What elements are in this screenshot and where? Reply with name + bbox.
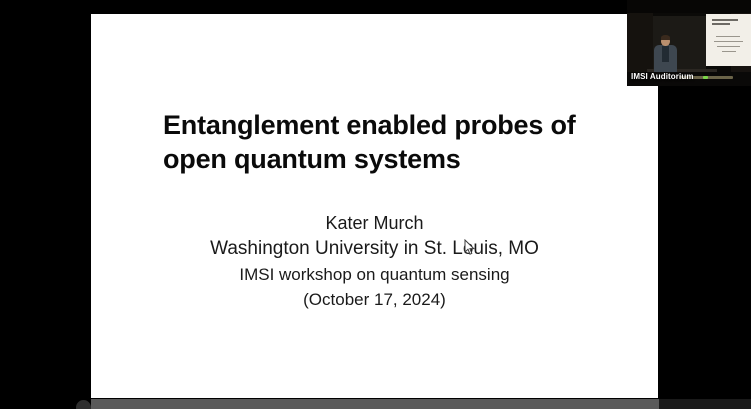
webcam-projected-text-line-4 (722, 51, 736, 52)
webcam-video-tile[interactable]: IMSI Auditorium (627, 0, 751, 86)
webcam-ceiling (627, 0, 751, 13)
webcam-participant-label: IMSI Auditorium (631, 72, 694, 82)
player-round-control-button[interactable] (76, 400, 91, 409)
slide-affiliation: Washington University in St. Louis, MO (91, 236, 658, 262)
webcam-projected-title-line-2 (712, 23, 730, 25)
webcam-projected-text-line-1 (716, 36, 740, 37)
player-control-bar-right-fill (659, 399, 751, 409)
slide-event-name: IMSI workshop on quantum sensing (91, 262, 658, 287)
webcam-projected-text-line-2 (714, 41, 743, 42)
webcam-projected-title-line-1 (712, 19, 738, 21)
webcam-projected-slide (706, 14, 751, 66)
presentation-slide: Entanglement enabled probes of open quan… (91, 14, 658, 398)
slide-date: (October 17, 2024) (91, 287, 658, 312)
webcam-presenter-hair (661, 35, 670, 40)
video-player-viewport: Entanglement enabled probes of open quan… (0, 0, 751, 409)
webcam-console-led-indicator (703, 76, 708, 79)
webcam-presenter-shirt (662, 46, 669, 62)
slide-subtitle-block: Kater Murch Washington University in St.… (91, 210, 658, 312)
webcam-projected-text-line-3 (717, 46, 740, 47)
webcam-wall-left (627, 13, 653, 73)
slide-speaker-name: Kater Murch (91, 210, 658, 236)
player-control-bar[interactable] (91, 399, 751, 409)
slide-title: Entanglement enabled probes of open quan… (163, 108, 633, 176)
